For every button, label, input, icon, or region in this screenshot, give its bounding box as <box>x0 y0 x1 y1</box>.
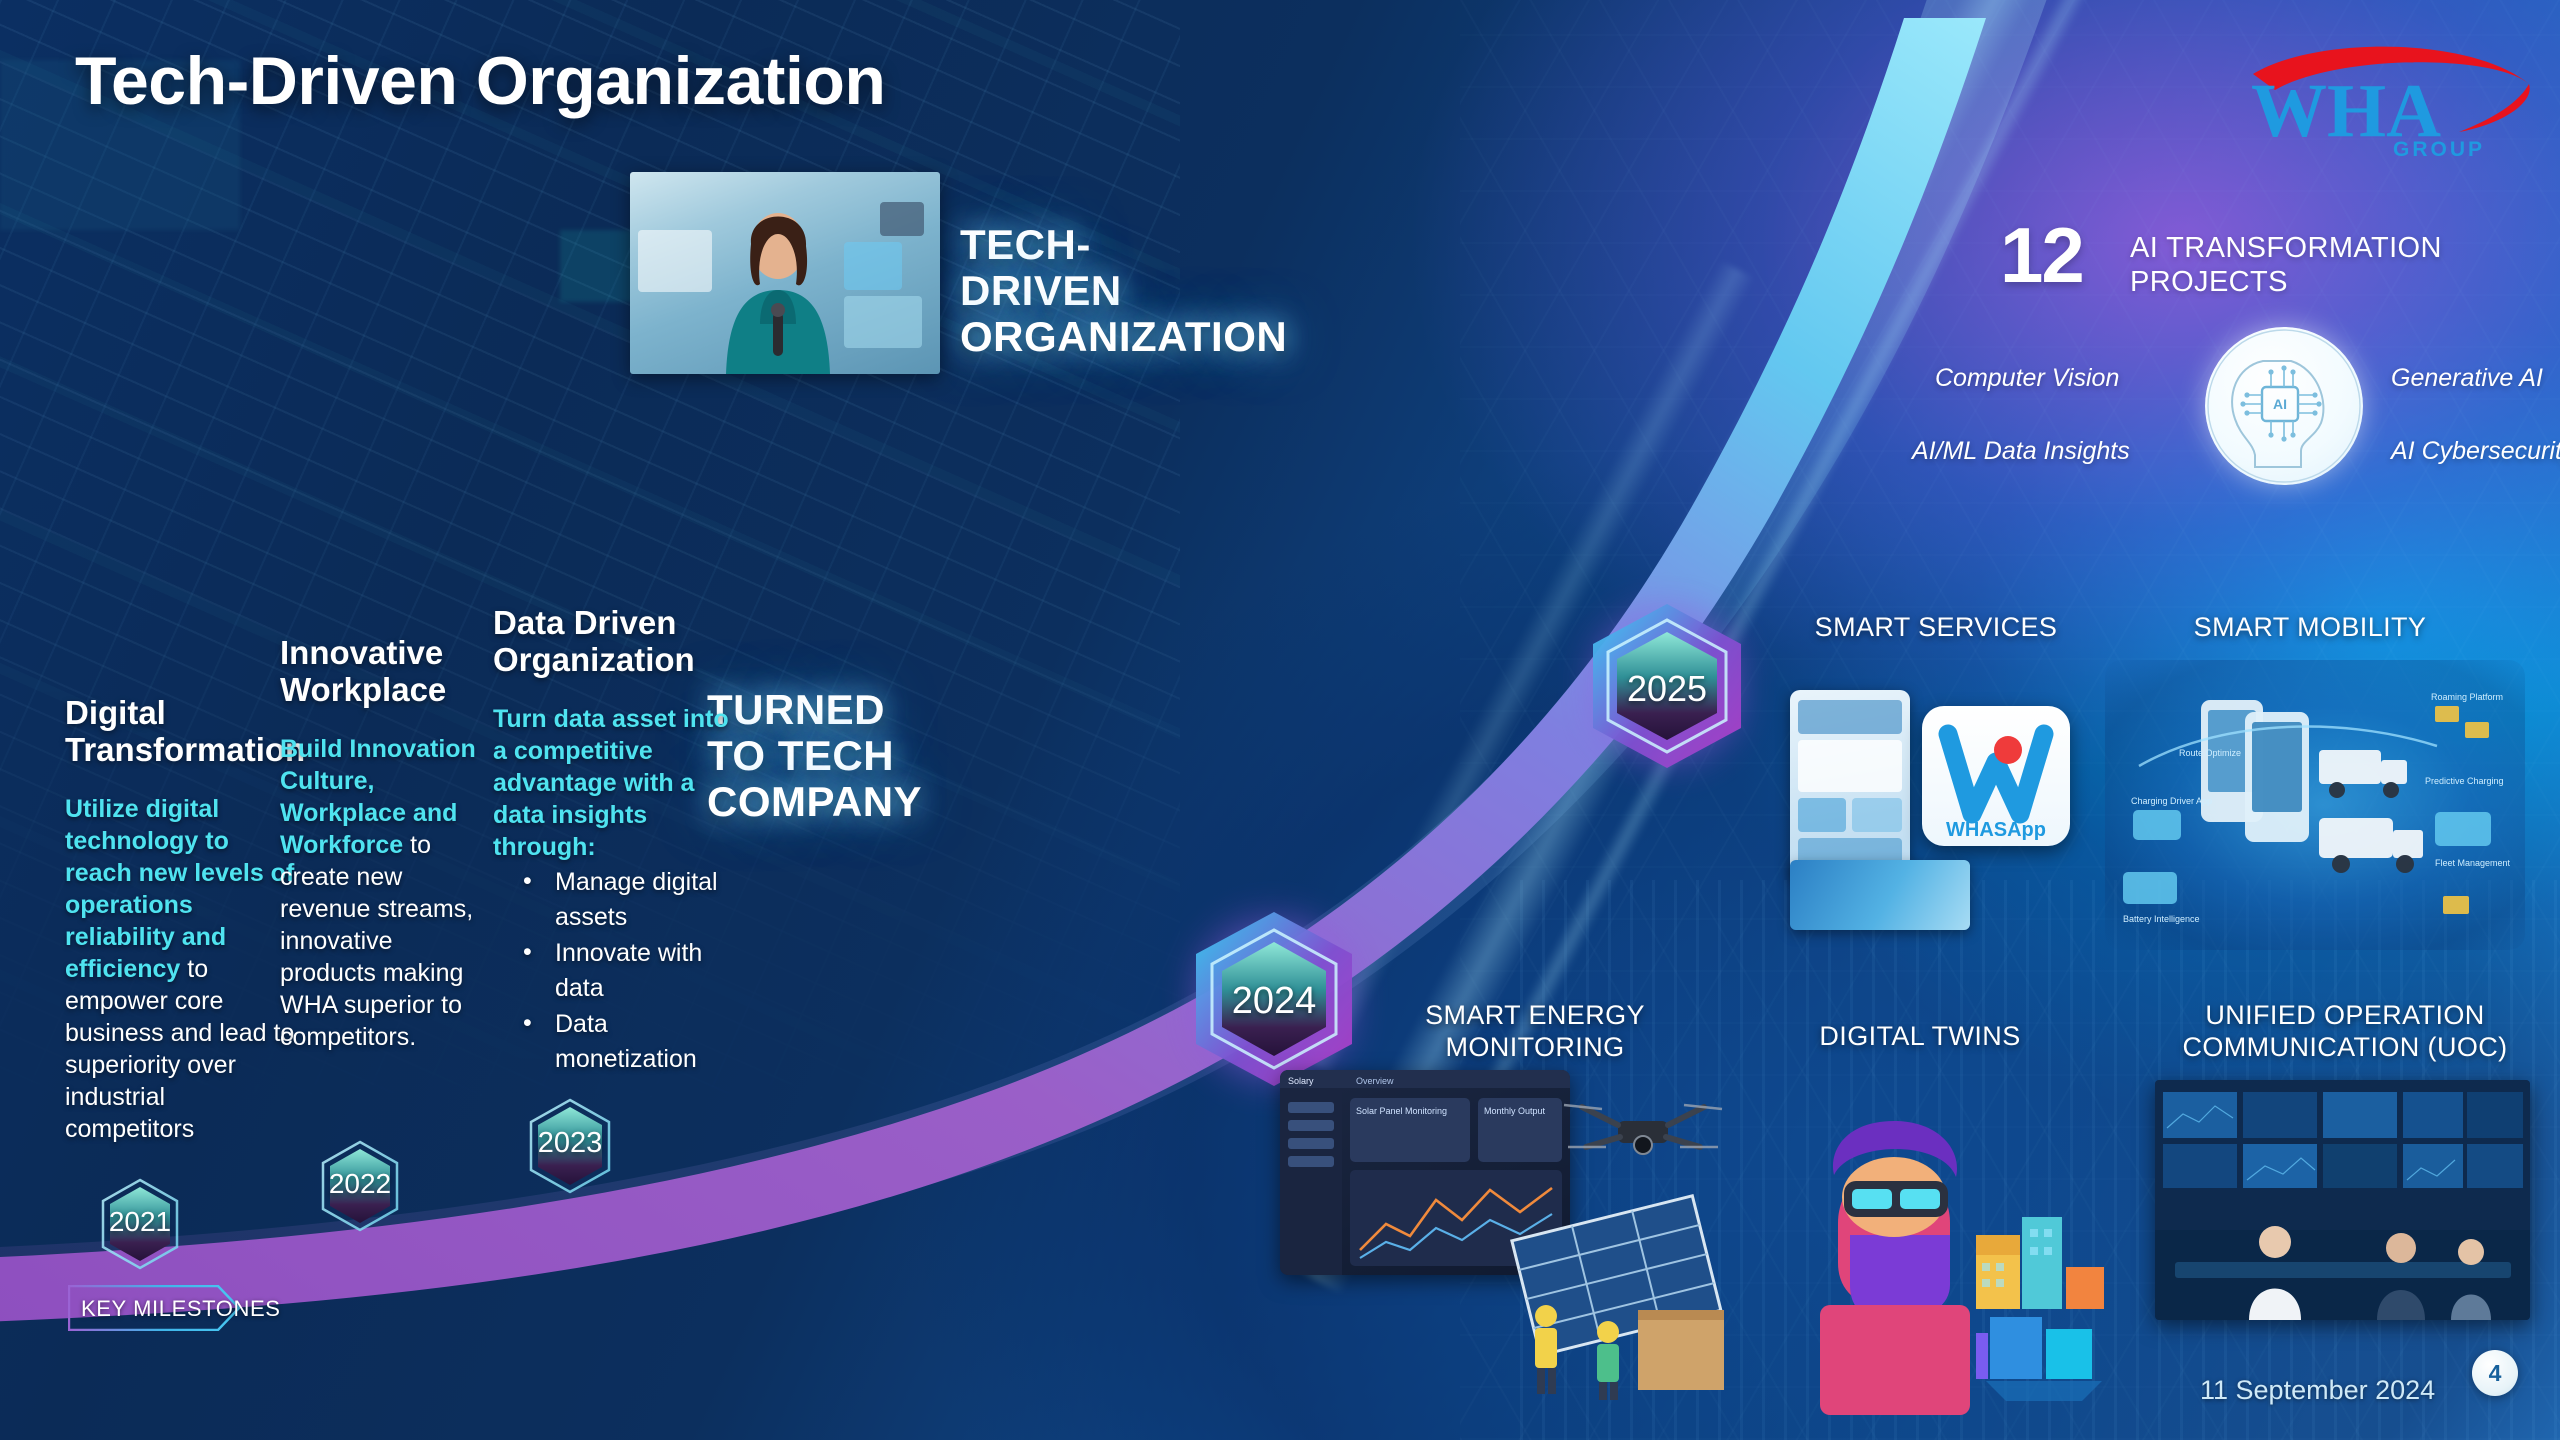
svg-text:Fleet Management: Fleet Management <box>2435 858 2511 868</box>
svg-text:Overview: Overview <box>1356 1076 1394 1086</box>
label-smart-services: SMART SERVICES <box>1801 612 2071 644</box>
vr-user-figure-icon <box>1820 1121 1970 1415</box>
key-milestones-badge[interactable]: KEY MILESTONES <box>68 1285 240 1331</box>
label-unified-operation-communication: UNIFIED OPERATION COMMUNICATION (UOC) <box>2145 1000 2545 1064</box>
column-2-body: Build Innovation Culture, Workplace and … <box>280 733 495 1053</box>
svg-text:Predictive Charging: Predictive Charging <box>2425 776 2504 786</box>
column-3-highlight: Turn data asset into a competitive advan… <box>493 705 729 861</box>
ai-projects-label: AI TRANSFORMATION PROJECTS <box>2130 232 2510 299</box>
uoc-control-room-photo <box>2155 1080 2530 1320</box>
svg-text:Solary: Solary <box>1288 1076 1314 1086</box>
column-data-driven-organization: Data Driven Organization Turn data asset… <box>493 605 738 1078</box>
list-item: Innovate with data <box>523 936 738 1007</box>
column-1-body: Utilize digital technology to reach new … <box>65 793 295 1145</box>
slide-date: 11 September 2024 <box>2200 1375 2435 1406</box>
whasapp-app-icon: WHASApp <box>1922 706 2070 846</box>
heading-tech-driven-organization: TECH-DRIVEN ORGANIZATION <box>960 222 1210 361</box>
milestone-2021[interactable]: 2021 <box>100 1178 180 1270</box>
ai-tag-generative-ai: Generative AI <box>2391 364 2543 393</box>
presenter-photo <box>630 172 940 374</box>
smart-mobility-collage: Route Optimize Predictive Charging Batte… <box>2105 660 2525 950</box>
label-smart-mobility: SMART MOBILITY <box>2175 612 2445 644</box>
presenter-figure-icon <box>718 194 838 374</box>
svg-text:AI: AI <box>2273 396 2287 412</box>
slide-canvas: Tech-Driven Organization WHA GROUP 12 AI… <box>0 0 2560 1440</box>
svg-text:Solar Panel Monitoring: Solar Panel Monitoring <box>1356 1106 1447 1116</box>
label-smart-energy-monitoring: SMART ENERGY MONITORING <box>1390 1000 1680 1064</box>
digital-city-blocks <box>1976 1217 2104 1401</box>
column-2-heading: Innovative Workplace <box>280 635 495 709</box>
svg-text:Roaming Platform: Roaming Platform <box>2431 692 2503 702</box>
heading-turned-to-tech-company: TURNED TO TECH COMPANY <box>707 687 917 826</box>
ai-projects-count: 12 <box>2000 218 2083 292</box>
svg-text:Charging Driver App: Charging Driver App <box>2131 796 2212 806</box>
milestone-2023[interactable]: 2023 <box>528 1098 612 1194</box>
column-2-highlight: Build Innovation Culture, Workplace and … <box>280 735 476 859</box>
svg-text:Battery Intelligence: Battery Intelligence <box>2123 914 2200 924</box>
ai-tag-computer-vision: Computer Vision <box>1935 364 2119 393</box>
label-digital-twins: DIGITAL TWINS <box>1800 1021 2040 1053</box>
page-number: 4 <box>2472 1350 2518 1396</box>
drone-illustration <box>1560 1085 1725 1175</box>
milestone-2025[interactable]: 2025 <box>1588 600 1746 772</box>
whasapp-label: WHASApp <box>1946 819 2046 841</box>
svg-text:Monthly Output: Monthly Output <box>1484 1106 1546 1116</box>
column-digital-transformation: Digital Transformation Utilize digital t… <box>65 695 295 1145</box>
worker-figure-icon <box>1535 1305 1557 1394</box>
page-number-badge: 4 <box>2472 1350 2518 1396</box>
column-3-body: Turn data asset into a competitive advan… <box>493 703 738 863</box>
wha-group-logo: WHA GROUP <box>2245 28 2545 158</box>
column-3-bullets: Manage digital assets Innovate with data… <box>493 865 738 1078</box>
ai-tag-aiml-insights: AI/ML Data Insights <box>1912 437 2130 466</box>
list-item: Manage digital assets <box>523 865 738 936</box>
list-item: Data monetization <box>523 1007 738 1078</box>
digital-twins-illustration <box>1790 1085 2130 1415</box>
column-2-rest: to create new revenue streams, innovativ… <box>280 831 473 1051</box>
ai-tag-cybersecurity: AI Cybersecurity <box>2391 437 2560 466</box>
worker-figure-icon-2 <box>1597 1321 1619 1400</box>
ai-brain-icon: AI <box>2205 327 2363 485</box>
svg-text:Route Optimize: Route Optimize <box>2179 748 2241 758</box>
column-1-rest: to empower core business and lead to sup… <box>65 955 294 1143</box>
solar-panel-illustration <box>1510 1190 1735 1400</box>
smart-services-cards <box>1790 860 1970 930</box>
column-1-heading: Digital Transformation <box>65 695 295 769</box>
smart-services-phone-mock <box>1790 690 1910 880</box>
milestone-2024[interactable]: 2024 <box>1190 908 1358 1090</box>
key-milestones-label: KEY MILESTONES <box>81 1296 281 1322</box>
milestone-2022[interactable]: 2022 <box>320 1140 400 1232</box>
logo-sub: GROUP <box>2393 138 2485 158</box>
page-title: Tech-Driven Organization <box>75 42 885 120</box>
column-innovative-workplace: Innovative Workplace Build Innovation Cu… <box>280 635 495 1053</box>
column-3-heading: Data Driven Organization <box>493 605 738 679</box>
